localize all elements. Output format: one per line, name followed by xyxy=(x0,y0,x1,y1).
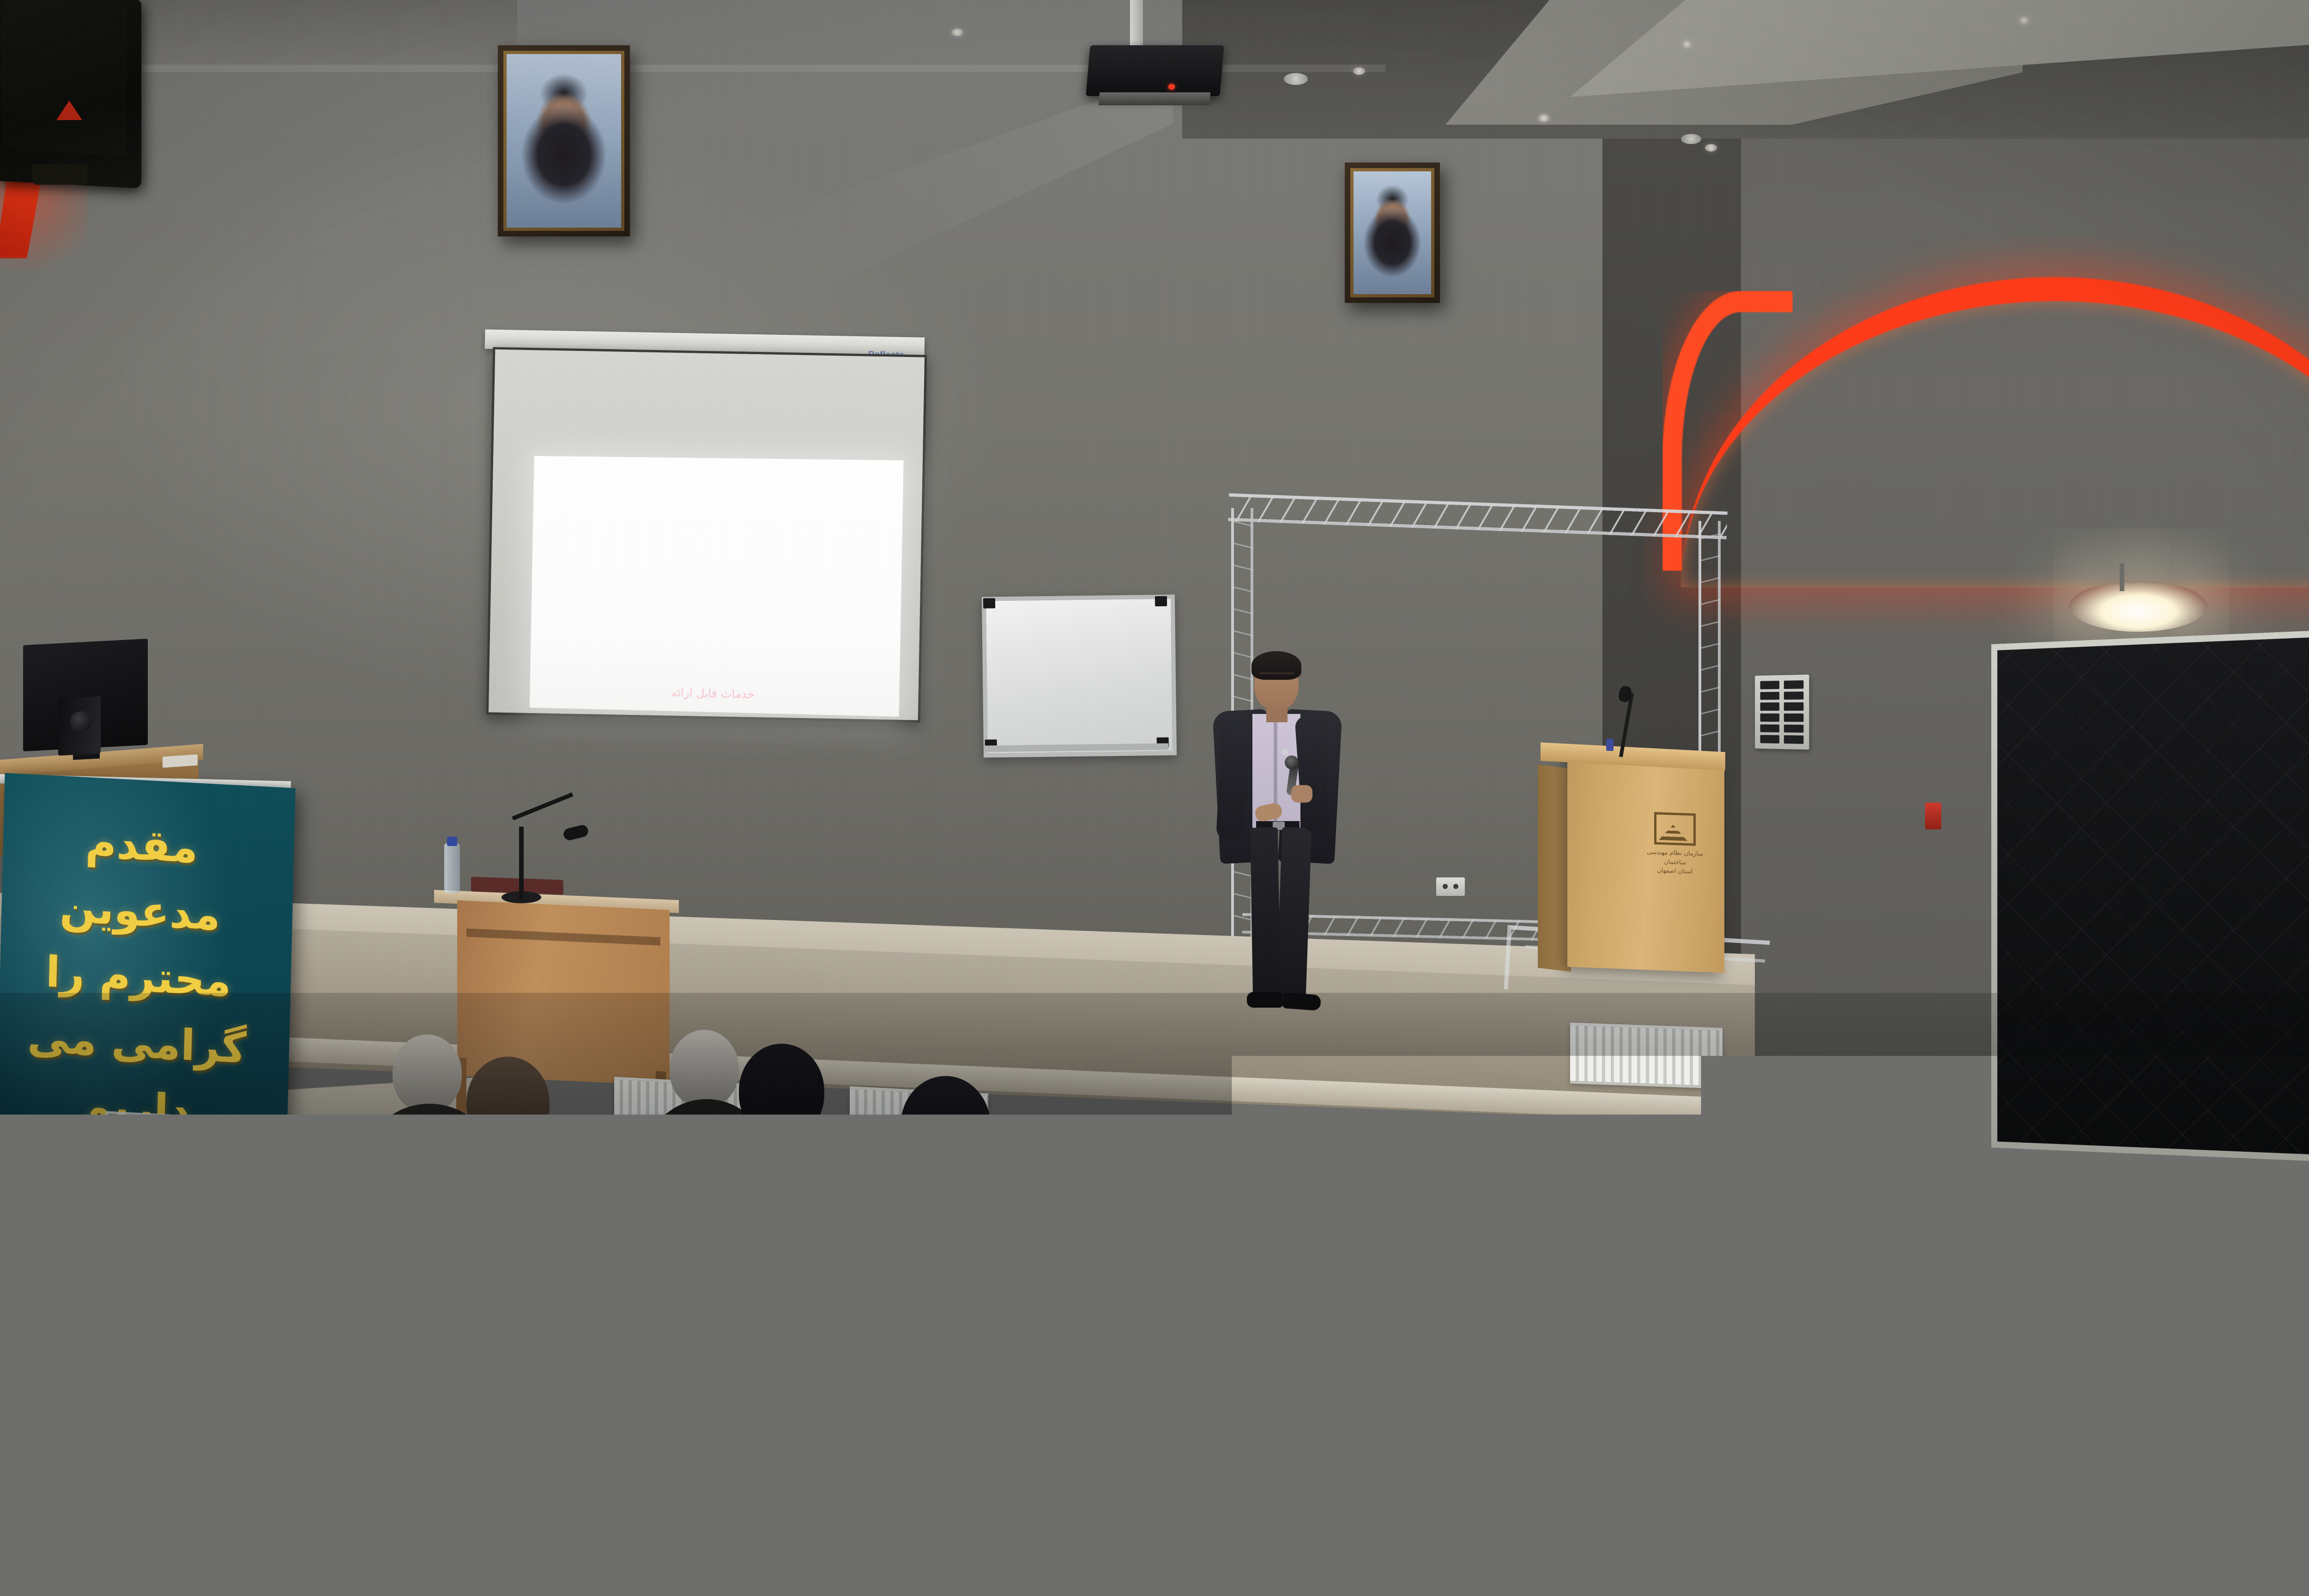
portrait-image xyxy=(1354,171,1431,294)
podium-logo-caption: سازمان نظام مهندسی ساختمان استان اصفهان xyxy=(1640,847,1710,877)
presenter-lapel-pin xyxy=(1282,749,1288,756)
attendee-head xyxy=(1367,1367,1561,1579)
wall-power-outlet xyxy=(1436,877,1465,896)
downlight-icon xyxy=(2018,17,2030,24)
projector-base-plate xyxy=(1099,92,1210,105)
smoke-detector-icon xyxy=(1284,73,1308,85)
portrait-mat xyxy=(1350,168,1434,297)
auditorium-seat[interactable] xyxy=(1593,1478,2009,1596)
downlight-icon xyxy=(1538,115,1550,122)
downlight-icon xyxy=(1705,144,1717,151)
presenter-leg-right xyxy=(1276,827,1312,998)
smoke-detector-icon xyxy=(1681,134,1701,144)
light-switch-key[interactable] xyxy=(1760,735,1779,744)
whiteboard-corner xyxy=(983,598,995,608)
outlet-hole xyxy=(1443,884,1448,889)
fire-alarm-call-point[interactable] xyxy=(1925,803,1941,829)
microphone-head-icon xyxy=(1285,756,1299,769)
auditorium-seat[interactable] xyxy=(702,1293,961,1441)
presenter-hand-right xyxy=(1291,785,1312,803)
auditorium-seat[interactable] xyxy=(462,1459,813,1596)
slide-text: خدمات قابل ارائه xyxy=(530,683,899,705)
attendee-headscarf xyxy=(2143,1155,2242,1265)
attendee-headscarf xyxy=(1630,1164,1727,1275)
portrait-khomeini xyxy=(498,45,630,236)
light-switch-panel[interactable] xyxy=(1755,675,1809,750)
ceiling-projector xyxy=(1086,45,1224,96)
light-switch-key[interactable] xyxy=(1760,713,1779,722)
attendee-head xyxy=(1021,1233,1108,1328)
projector-mount-pole xyxy=(1130,0,1143,48)
conference-hall-photo: Reflecta خدمات قابل ارائه xyxy=(0,0,2309,1596)
auditorium-seat[interactable] xyxy=(55,1496,425,1596)
audience-area xyxy=(0,1016,2309,1596)
attendee-head xyxy=(2009,1178,2115,1295)
face-mask xyxy=(1353,1251,1386,1281)
downlight-icon xyxy=(1681,41,1693,48)
presenter-shoe-right xyxy=(1282,992,1321,1011)
light-switch-key[interactable] xyxy=(1760,681,1779,689)
projector-power-led-icon xyxy=(1168,84,1175,90)
attendee-head xyxy=(739,1044,824,1138)
pa-speaker xyxy=(0,0,141,188)
water-bottle-cap xyxy=(447,837,457,846)
auditorium-seat[interactable] xyxy=(1727,1339,2004,1496)
light-switch-key[interactable] xyxy=(1784,735,1804,744)
presenter-on-stage xyxy=(1201,647,1339,1016)
projected-slide: خدمات قابل ارائه xyxy=(530,456,904,717)
podium-bottle-cap xyxy=(1606,739,1614,751)
wall-light-arm xyxy=(2120,563,2124,591)
switch-grid xyxy=(1760,680,1804,744)
attendee-head xyxy=(670,1030,739,1107)
banner-line-1: مقدم مدعوین xyxy=(10,806,272,951)
presenter-shoe-left xyxy=(1247,992,1283,1008)
downlight-icon xyxy=(1353,67,1365,75)
podium-side-panel xyxy=(1538,765,1571,972)
portrait-khamenei xyxy=(1345,163,1440,303)
light-switch-key[interactable] xyxy=(1784,713,1804,722)
light-switch-key[interactable] xyxy=(1784,680,1804,689)
whiteboard xyxy=(982,594,1177,757)
light-switch-key[interactable] xyxy=(1760,702,1779,711)
portrait-mat xyxy=(503,51,624,231)
presenter-leg-left xyxy=(1250,828,1281,998)
auditorium-seat[interactable] xyxy=(2023,1358,2309,1519)
downlight-icon xyxy=(951,29,963,36)
auditorium-seat[interactable] xyxy=(416,1275,674,1413)
auditorium-seat[interactable] xyxy=(845,1482,1205,1596)
light-switch-key[interactable] xyxy=(1784,691,1804,700)
auditorium-seat[interactable] xyxy=(988,1316,1247,1469)
light-switch-key[interactable] xyxy=(1760,724,1779,732)
speaker-mount-bracket xyxy=(32,164,88,185)
attendee-head xyxy=(1270,1335,1362,1435)
whiteboard-corner xyxy=(1155,596,1167,606)
face-mask xyxy=(1819,1186,1852,1216)
speaker-grille xyxy=(2,0,127,156)
face-mask xyxy=(1536,1180,1565,1207)
attendee-head xyxy=(393,1034,462,1112)
wall-light xyxy=(2069,581,2207,632)
light-switch-key[interactable] xyxy=(1784,702,1804,711)
outlet-hole xyxy=(1453,884,1458,889)
attendee-head xyxy=(2272,1099,2309,1208)
microphone-stand-pole xyxy=(519,827,524,901)
auditorium-seat[interactable] xyxy=(139,1330,397,1482)
attendee-head xyxy=(1154,1168,1247,1270)
attendee-head xyxy=(1021,1127,1120,1235)
podium-logo-caption-line1: سازمان نظام مهندسی ساختمان xyxy=(1640,847,1710,868)
portrait-image xyxy=(507,54,621,228)
light-switch-key[interactable] xyxy=(1784,725,1804,733)
attendee-head xyxy=(466,1057,550,1149)
water-bottle xyxy=(444,843,460,893)
attendee-head xyxy=(901,1076,991,1175)
light-switch-key[interactable] xyxy=(1760,692,1779,700)
banner-line-2: محترم را xyxy=(8,937,268,1017)
glasses-icon xyxy=(1260,672,1294,680)
